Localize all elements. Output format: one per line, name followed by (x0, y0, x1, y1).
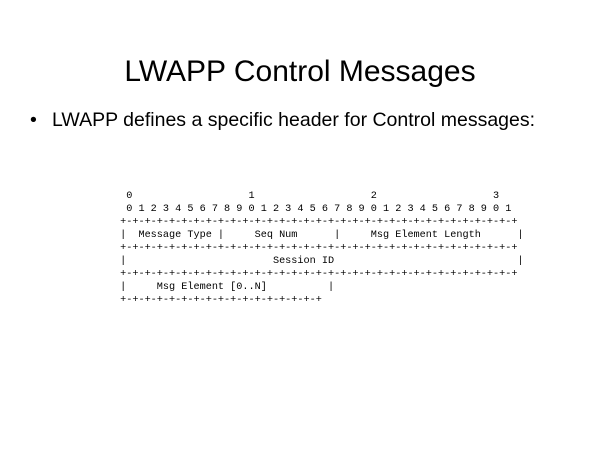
slide-body: • LWAPP defines a specific header for Co… (30, 108, 560, 133)
page-title: LWAPP Control Messages (0, 54, 600, 90)
list-item: • LWAPP defines a specific header for Co… (30, 108, 560, 133)
slide: LWAPP Control Messages • LWAPP defines a… (0, 0, 600, 450)
packet-header-diagram: 0 1 2 3 0 1 2 3 4 5 6 7 8 9 0 1 2 3 4 5 … (114, 190, 524, 307)
bullet-text: LWAPP defines a specific header for Cont… (52, 108, 560, 133)
bullet-point-icon: • (30, 108, 52, 133)
